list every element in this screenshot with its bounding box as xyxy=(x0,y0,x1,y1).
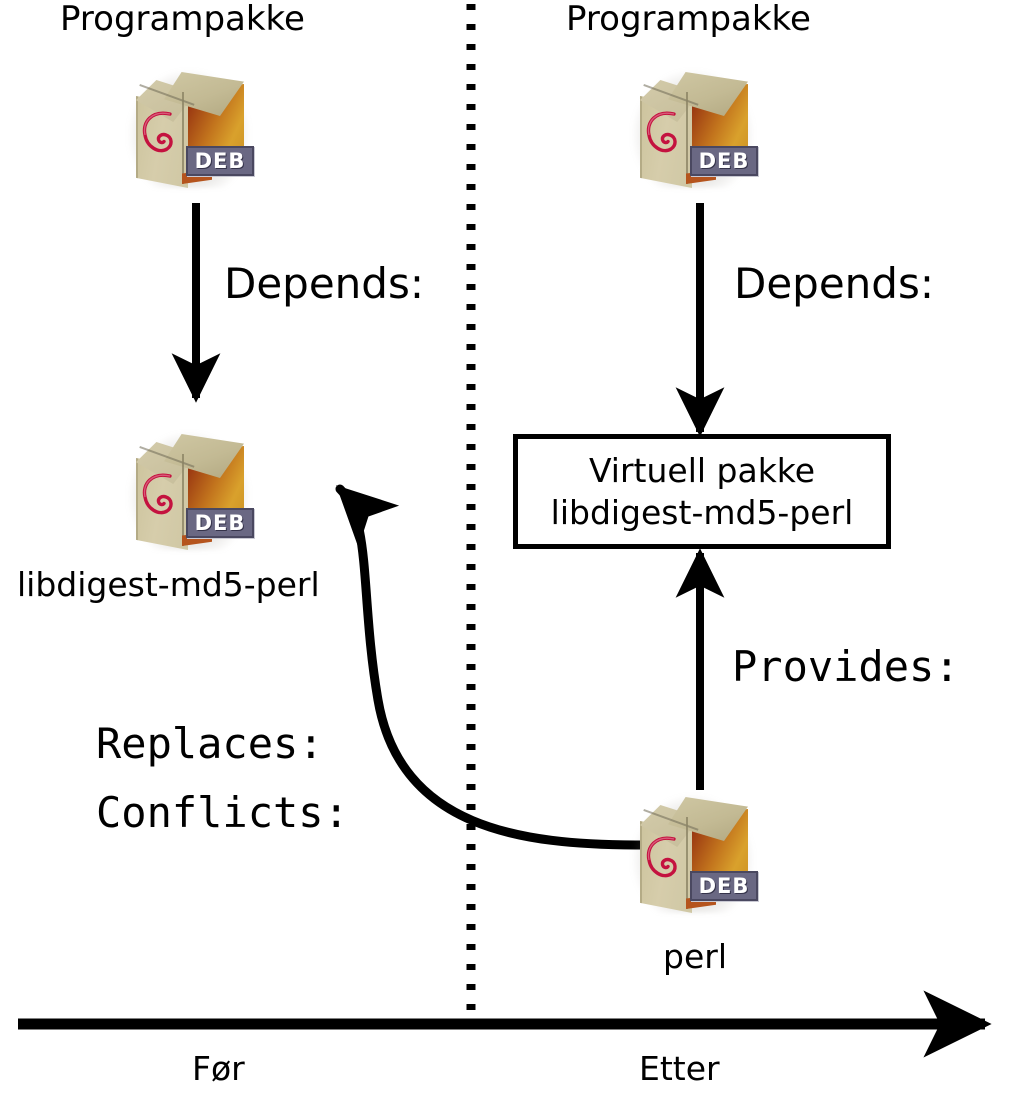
conflicts-label: Conflicts: xyxy=(96,791,349,835)
deb-badge-label: DEB xyxy=(195,513,246,534)
package-icon-before-top: DEB xyxy=(120,58,258,196)
package-label-libdigest-md5-perl: libdigest-md5-perl xyxy=(17,568,320,603)
heading-after: Programpakke xyxy=(566,2,811,38)
virtual-package-line1: Virtuell pakke xyxy=(589,450,815,491)
virtual-package-line2: libdigest-md5-perl xyxy=(551,492,854,533)
package-corner-edge xyxy=(686,92,688,184)
replaces-label: Replaces: xyxy=(96,722,324,766)
deb-badge-label: DEB xyxy=(195,151,246,172)
deb-badge-label: DEB xyxy=(699,151,750,172)
debian-swirl-icon xyxy=(140,106,182,160)
provides-label: Provides: xyxy=(732,645,960,689)
package-icon-after-top: DEB xyxy=(624,58,762,196)
depends-label-after: Depends: xyxy=(734,262,934,306)
package-corner-edge xyxy=(182,92,184,184)
package-label-perl: perl xyxy=(663,940,727,975)
heading-before: Programpakke xyxy=(60,2,305,38)
virtual-package-box: Virtuell pakke libdigest-md5-perl xyxy=(513,434,891,549)
debian-swirl-icon xyxy=(644,831,686,885)
axis-label-before: Før xyxy=(192,1052,245,1087)
deb-badge: DEB xyxy=(186,508,254,538)
diagram-canvas: Programpakke DEB Depends: xyxy=(0,0,1024,1094)
package-corner-edge xyxy=(686,817,688,909)
debian-swirl-icon xyxy=(644,106,686,160)
package-icon-perl: DEB xyxy=(624,783,762,921)
depends-label-before: Depends: xyxy=(224,262,424,306)
package-corner-edge xyxy=(182,454,184,546)
deb-badge: DEB xyxy=(690,871,758,901)
axis-label-after: Etter xyxy=(639,1052,720,1087)
debian-swirl-icon xyxy=(140,468,182,522)
package-icon-libdigest-md5-perl: DEB xyxy=(120,420,258,558)
deb-badge-label: DEB xyxy=(699,876,750,897)
deb-badge: DEB xyxy=(690,146,758,176)
deb-badge: DEB xyxy=(186,146,254,176)
